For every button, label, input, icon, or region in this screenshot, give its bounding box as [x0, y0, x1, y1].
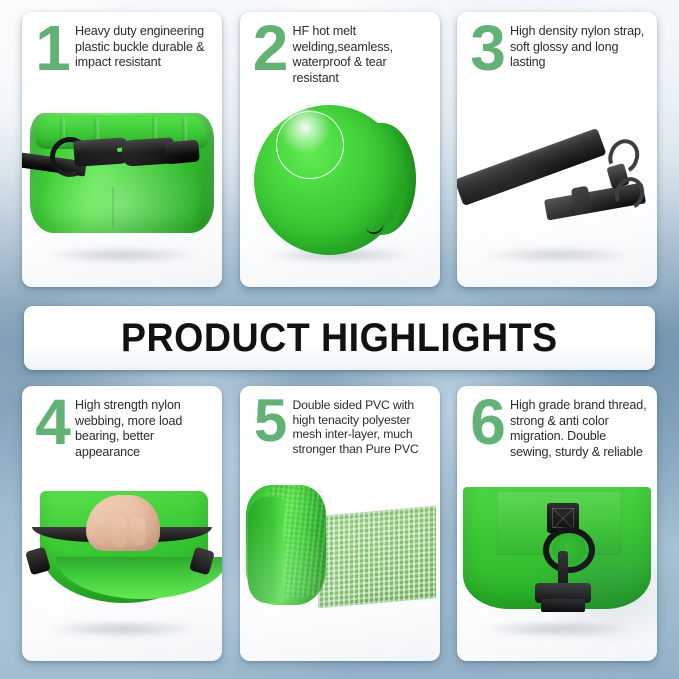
bag-welded-round-bottom: [254, 105, 404, 255]
feature-number-4: 4: [29, 396, 75, 448]
feature-card-5-header: 5 Double sided PVC with high tenacity po…: [240, 386, 440, 471]
feature-image-6: [457, 469, 657, 659]
strap-slider-buckle: [571, 186, 592, 216]
weld-seam-callout-circle: [276, 111, 344, 179]
shadow-ellipse: [481, 621, 633, 637]
feature-text-6: High grade brand thread, strong & anti c…: [510, 395, 648, 460]
finger: [130, 517, 145, 546]
feature-number-6: 6: [464, 396, 510, 448]
feature-text-3: High density nylon strap, soft glossy an…: [510, 21, 648, 71]
fabric-roll-edge: [248, 497, 284, 603]
feature-card-2-header: 2 HF hot melt welding,seamless, waterpro…: [240, 12, 440, 97]
bag-seam: [112, 187, 114, 227]
strap-tail: [541, 599, 585, 612]
feature-card-1-header: 1 Heavy duty engineering plastic buckle …: [22, 12, 222, 97]
feature-card-5: 5 Double sided PVC with high tenacity po…: [240, 386, 440, 661]
product-highlights-infographic: 1 Heavy duty engineering plastic buckle …: [0, 0, 679, 679]
feature-image-3: [457, 95, 657, 285]
feature-card-4-header: 4 High strength nylon webbing, more load…: [22, 386, 222, 471]
feature-text-4: High strength nylon webbing, more load b…: [75, 395, 213, 460]
pvc-fabric-roll: [246, 485, 326, 605]
green-bag-body: [463, 487, 651, 609]
banner-title: PRODUCT HIGHLIGHTS: [121, 316, 558, 361]
feature-number-1: 1: [29, 22, 75, 74]
feature-image-4: [22, 469, 222, 659]
d-ring-icon: [543, 527, 595, 573]
feature-card-1: 1 Heavy duty engineering plastic buckle …: [22, 12, 222, 287]
feature-card-6: 6 High grade brand thread, strong & anti…: [457, 386, 657, 661]
feature-number-5: 5: [247, 396, 293, 445]
feature-image-5: [240, 469, 440, 647]
feature-text-1: Heavy duty engineering plastic buckle du…: [75, 21, 213, 71]
feature-card-2: 2 HF hot melt welding,seamless, waterpro…: [240, 12, 440, 287]
feature-image-2: [240, 95, 440, 285]
polyester-mesh-swatch: [318, 506, 436, 608]
feature-row-top: 1 Heavy duty engineering plastic buckle …: [22, 12, 657, 287]
feature-row-bottom: 4 High strength nylon webbing, more load…: [22, 386, 657, 661]
product-highlights-banner: PRODUCT HIGHLIGHTS: [24, 306, 655, 370]
feature-card-3: 3 High density nylon strap, soft glossy …: [457, 12, 657, 287]
feature-number-3: 3: [464, 22, 510, 74]
finger: [112, 517, 127, 548]
shadow-ellipse: [46, 247, 198, 263]
finger: [94, 517, 109, 545]
feature-card-4: 4 High strength nylon webbing, more load…: [22, 386, 222, 661]
feature-number-2: 2: [247, 22, 293, 74]
feature-card-6-header: 6 High grade brand thread, strong & anti…: [457, 386, 657, 471]
feature-card-3-header: 3 High density nylon strap, soft glossy …: [457, 12, 657, 97]
shadow-ellipse: [481, 247, 633, 263]
plastic-buckle-end: [164, 140, 200, 165]
feature-image-1: [22, 95, 222, 285]
feature-text-2: HF hot melt welding,seamless, waterproof…: [293, 21, 431, 86]
shadow-ellipse: [46, 621, 198, 637]
feature-text-5: Double sided PVC with high tenacity poly…: [293, 395, 431, 457]
